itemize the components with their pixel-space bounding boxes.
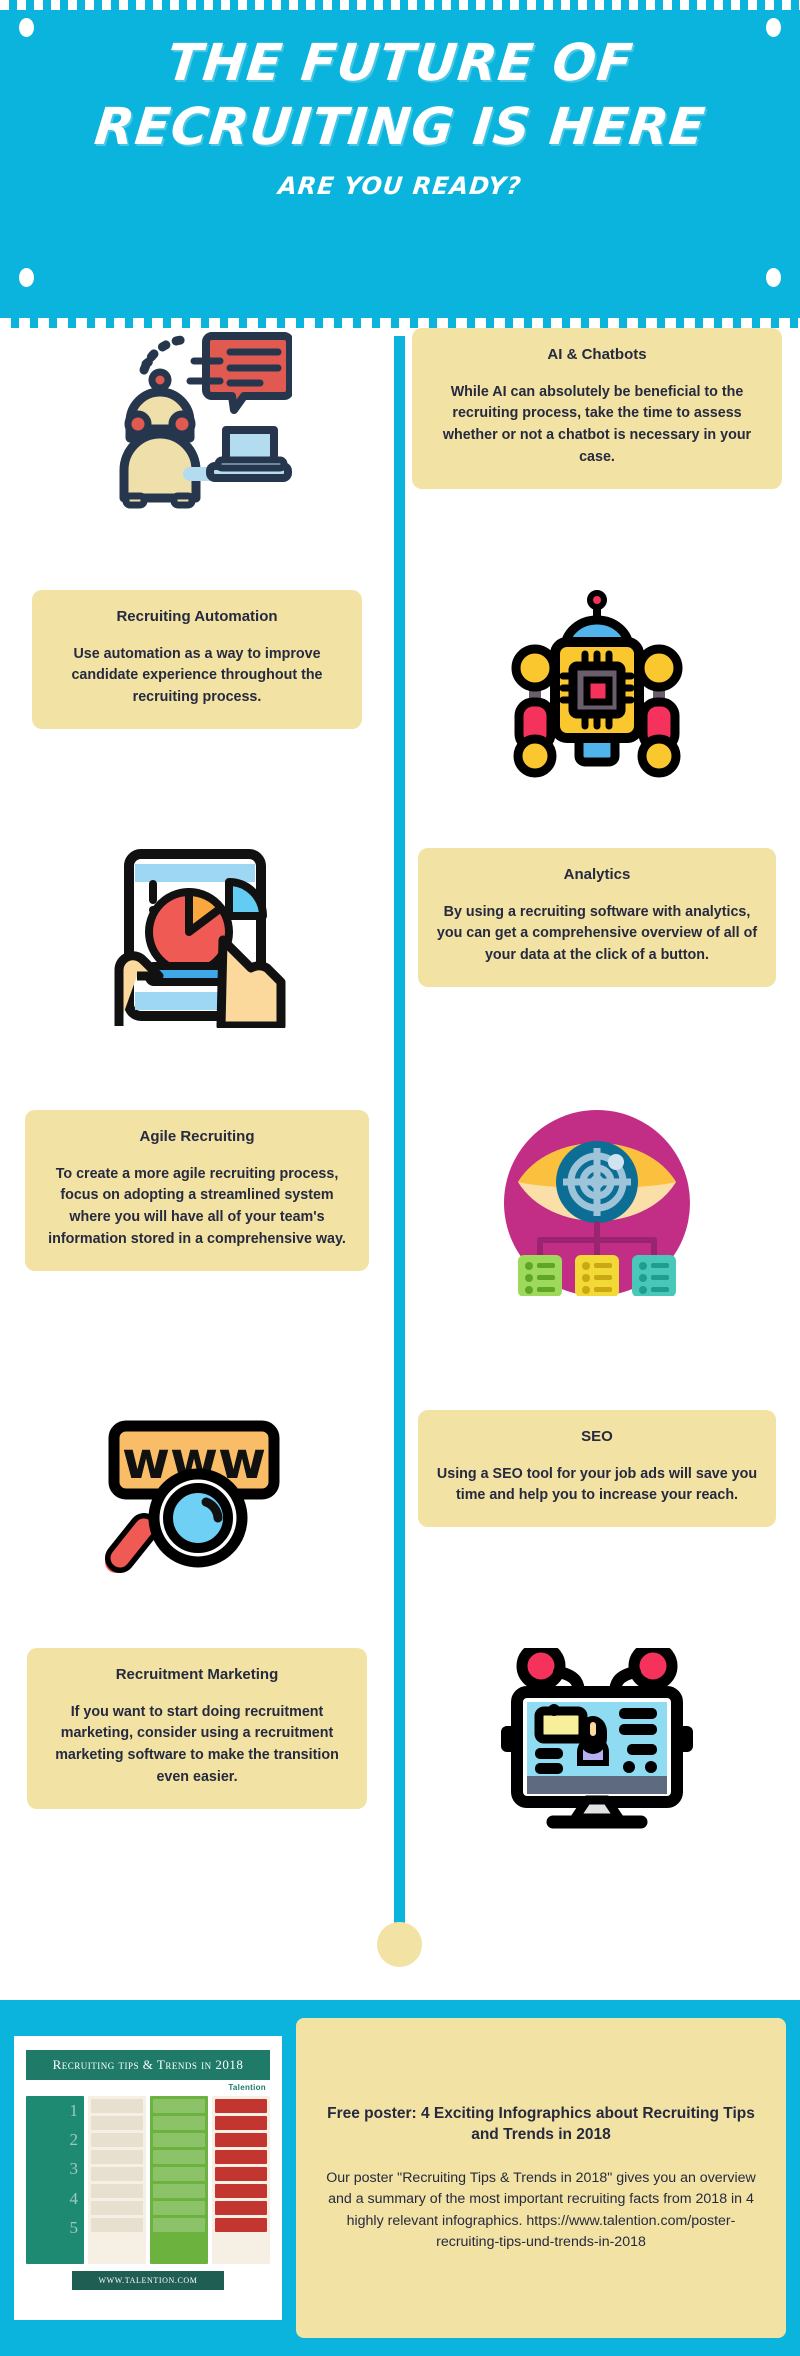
timeline-row-recruitment-marketing: Recruitment Marketing If you want to sta… [0, 1648, 800, 1834]
thumbnail-number-1: 1 [26, 2096, 84, 2125]
card-title: AI & Chatbots [428, 346, 766, 365]
timeline-row-analytics: Analytics By using a recruiting software… [0, 848, 800, 1028]
card-recruiting-automation: Recruiting Automation Use automation as … [32, 590, 362, 729]
timeline-row-agile-recruiting: Agile Recruiting To create a more agile … [0, 1110, 800, 1296]
timeline-end-dot [377, 1922, 422, 1967]
card-body: While AI can absolutely be beneficial to… [428, 382, 766, 469]
tablet-piechart-icon [0, 848, 394, 1028]
card-body: Using a SEO tool for your job ads will s… [434, 1464, 760, 1507]
card-body: If you want to start doing recruitment m… [43, 1702, 351, 1789]
automation-robot-icon [394, 590, 800, 780]
www-magnifier-icon: www [0, 1410, 394, 1590]
page-subtitle: Are you ready? [39, 172, 762, 200]
footer-promo-card: Free poster: 4 Exciting Infographics abo… [296, 2018, 786, 2338]
card-body: To create a more agile recruiting proces… [41, 1164, 353, 1251]
footer-title: Free poster: 4 Exciting Infographics abo… [318, 2103, 764, 2146]
eye-target-icon [394, 1110, 800, 1296]
talention-logo: Talention [26, 2080, 270, 2096]
page-title-line-2: Recruiting is Here [37, 102, 762, 154]
card-analytics: Analytics By using a recruiting software… [418, 848, 776, 987]
poster-thumbnail[interactable]: Recruiting tips & Trends in 2018 Talenti… [14, 2036, 282, 2320]
card-title: Analytics [434, 866, 760, 885]
card-seo: SEO Using a SEO tool for your job ads wi… [418, 1410, 776, 1527]
header-banner: The Future of Recruiting is Here Are you… [0, 0, 800, 328]
torn-edge-bottom [0, 318, 800, 328]
corner-dot-bottom-left [19, 268, 34, 287]
monitor-profile-icon [394, 1648, 800, 1834]
page-title-line-1: The Future of [37, 38, 762, 90]
timeline-row-ai-chatbots: AI & Chatbots While AI can absolutely be… [0, 328, 800, 513]
thumbnail-banner-title: Recruiting tips & Trends in 2018 [26, 2050, 270, 2080]
thumbnail-columns: 1 2 3 4 5 [26, 2096, 270, 2264]
thumbnail-column-4 [212, 2096, 270, 2264]
timeline-body: AI & Chatbots While AI can absolutely be… [0, 328, 800, 2000]
footer-banner: Recruiting tips & Trends in 2018 Talenti… [0, 2000, 800, 2356]
footer-body: Our poster "Recruiting Tips & Trends in … [318, 2168, 764, 2253]
thumbnail-number-2: 2 [26, 2125, 84, 2154]
timeline-row-seo: www SEO Using a SEO tool for your job ad… [0, 1410, 800, 1590]
card-body: By using a recruiting software with anal… [434, 902, 760, 967]
chatbot-robot-icon [0, 328, 394, 513]
thumbnail-column-1: 1 2 3 4 5 [26, 2096, 84, 2264]
thumbnail-number-5: 5 [26, 2213, 84, 2242]
card-ai-chatbots: AI & Chatbots While AI can absolutely be… [412, 328, 782, 489]
thumbnail-number-4: 4 [26, 2184, 84, 2213]
card-recruitment-marketing: Recruitment Marketing If you want to sta… [27, 1648, 367, 1809]
thumbnail-url: WWW.TALENTION.COM [72, 2271, 223, 2290]
card-title: Recruitment Marketing [43, 1666, 351, 1685]
card-title: SEO [434, 1428, 760, 1447]
thumbnail-column-2 [88, 2096, 146, 2264]
corner-dot-bottom-right [766, 268, 781, 287]
thumbnail-number-3: 3 [26, 2154, 84, 2183]
thumbnail-column-3 [150, 2096, 208, 2264]
timeline-row-recruiting-automation: Recruiting Automation Use automation as … [0, 590, 800, 780]
card-agile-recruiting: Agile Recruiting To create a more agile … [25, 1110, 369, 1271]
card-body: Use automation as a way to improve candi… [48, 644, 346, 709]
card-title: Recruiting Automation [48, 608, 346, 627]
card-title: Agile Recruiting [41, 1128, 353, 1147]
